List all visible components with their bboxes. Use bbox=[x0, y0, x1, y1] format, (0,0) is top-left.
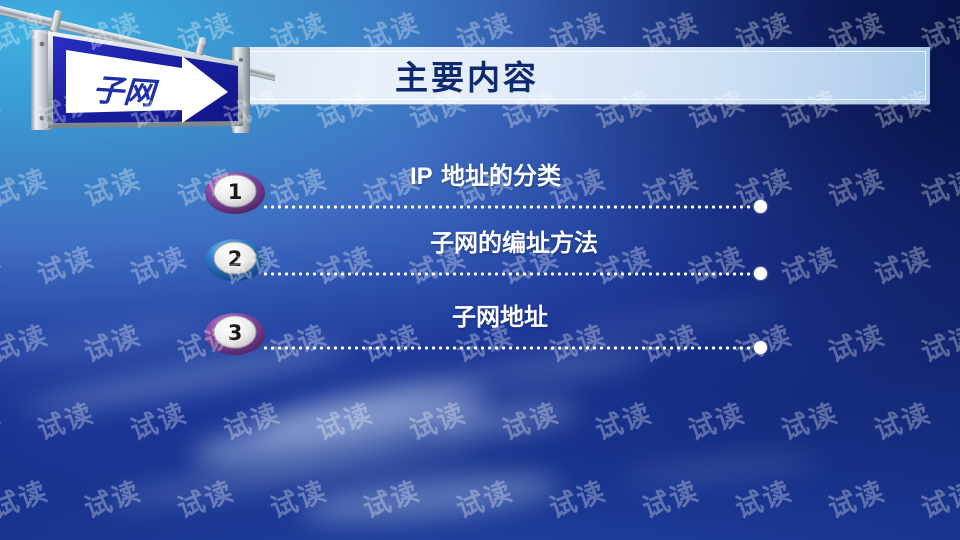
item-label-2: 子网的编址方法 bbox=[430, 223, 598, 258]
hanging-sign: 子网 bbox=[0, 0, 275, 145]
item-label-1: IP 地址的分类 bbox=[410, 156, 561, 191]
item-badge-2[interactable]: 2 bbox=[204, 236, 266, 282]
item-label-3: 子网地址 bbox=[452, 297, 548, 332]
item-label-cjk-3: 子网地址 bbox=[452, 302, 548, 331]
leader-dots-3 bbox=[262, 346, 760, 350]
item-label-cjk-2: 子网的编址方法 bbox=[430, 228, 598, 257]
item-label-cjk-1: 地址的分类 bbox=[433, 161, 561, 190]
sign-label: 子网 bbox=[91, 72, 160, 113]
item-label-ascii-1: IP bbox=[410, 163, 433, 190]
item-number-3: 3 bbox=[228, 321, 243, 345]
leader-end-dot-1 bbox=[754, 200, 767, 213]
leader-dots-1 bbox=[262, 205, 760, 209]
item-badge-1[interactable]: 1 bbox=[204, 169, 266, 215]
item-number-2: 2 bbox=[228, 247, 243, 271]
page-title: 主要内容 bbox=[395, 51, 539, 99]
leader-end-dot-3 bbox=[754, 341, 767, 354]
leader-dots-2 bbox=[262, 272, 760, 276]
item-number-1: 1 bbox=[228, 180, 243, 204]
title-bar: 主要内容 bbox=[245, 47, 930, 104]
leader-end-dot-2 bbox=[754, 267, 767, 280]
item-badge-3[interactable]: 3 bbox=[204, 310, 266, 356]
slide-canvas: 主要内容 bbox=[0, 0, 960, 540]
